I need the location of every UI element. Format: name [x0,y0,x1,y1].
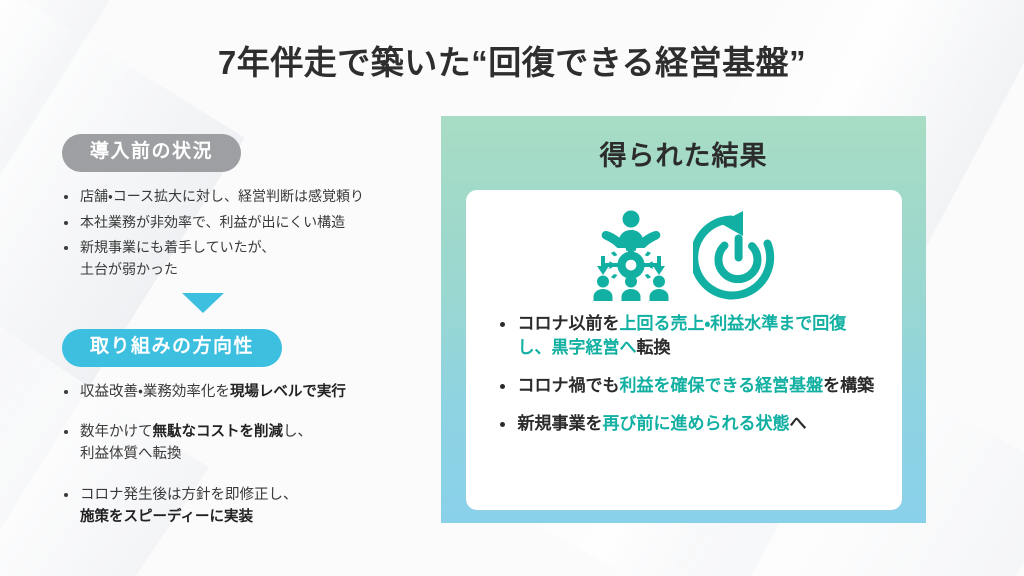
slide-stage: 7年伴走で築いた“回復できる経営基盤” 導入前の状況 店舗・コース拡大に対し、経… [0,0,1024,576]
direction-bullet-list: 収益改善・業務効率化を現場レベルで実行数年かけて無駄なコストを削減し、利益体質へ… [62,381,434,529]
before-situation-bullet-list: 店舗・コース拡大に対し、経営判断は感覚頼り本社業務が非効率で、利益が出にくい構造… [62,186,434,281]
list-item: 新規事業を再び前に進められる状態へ [496,412,876,436]
list-item: コロナ以前を上回る売上・利益水準まで回復し、黒字経営へ転換 [496,312,876,360]
results-card: コロナ以前を上回る売上・利益水準まで回復し、黒字経営へ転換コロナ禍でも利益を確保… [466,190,902,510]
list-item: コロナ発生後は方針を即修正し、施策をスピーディーに実装 [62,484,434,529]
page-title: 7年伴走で築いた“回復できる経営基盤” [0,36,1024,84]
leadership-gear-team-icon [583,209,679,301]
results-panel: 得られた結果 [441,116,926,523]
badge-before-situation: 導入前の状況 [62,134,241,172]
list-item: 本社業務が非効率で、利益が出にくい構造 [62,212,434,234]
list-item: 収益改善・業務効率化を現場レベルで実行 [62,381,434,403]
badge-direction: 取り組みの方向性 [62,329,282,367]
results-title: 得られた結果 [600,134,768,173]
list-item: 店舗・コース拡大に対し、経営判断は感覚頼り [62,186,434,208]
list-item: 数年かけて無駄なコストを削減し、利益体質へ転換 [62,421,434,466]
results-icon-row [583,206,785,304]
left-column: 導入前の状況 店舗・コース拡大に対し、経営判断は感覚頼り本社業務が非効率で、利益… [62,134,434,547]
results-bullet-list: コロナ以前を上回る売上・利益水準まで回復し、黒字経営へ転換コロナ禍でも利益を確保… [466,312,902,451]
list-item: コロナ禍でも利益を確保できる経営基盤を構築 [496,374,876,398]
power-restart-icon [693,209,785,301]
list-item: 新規事業にも着手していたが、土台が弱かった [62,237,434,280]
triangle-down-icon [182,293,224,313]
